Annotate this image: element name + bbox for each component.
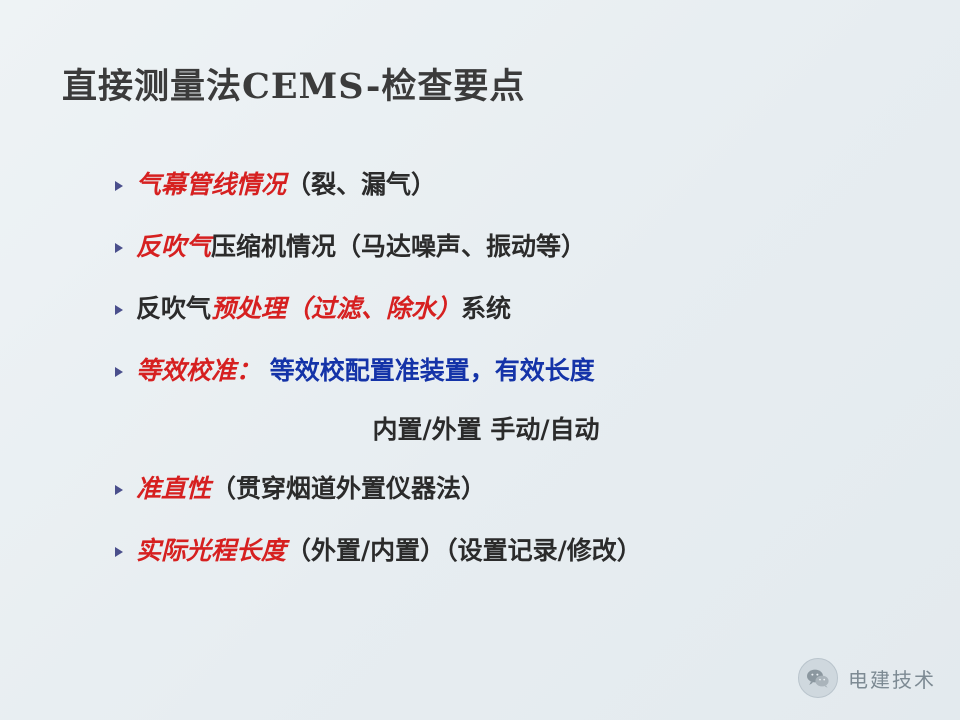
list-item: 等效校准： 等效校配置准装置，有效长度 [112, 354, 912, 388]
watermark-text: 电建技术 [848, 664, 936, 693]
text-segment: 等效校准： [136, 356, 261, 385]
triangle-bullet-icon [112, 534, 136, 559]
list-item: 反吹气预处理（过滤、除水）系统 [112, 292, 912, 326]
text-segment: 等效校配置准装置，有效长度 [261, 356, 595, 385]
text-segment: 实际光程长度 [136, 536, 286, 565]
triangle-bullet-icon [112, 354, 136, 379]
list-item-text: 反吹气压缩机情况（马达噪声、振动等） [136, 230, 586, 264]
triangle-bullet-icon [112, 168, 136, 193]
text-segment: 预处理 [211, 294, 286, 323]
list-item-text: 等效校准： 等效校配置准装置，有效长度 [136, 354, 595, 388]
text-segment: 反吹气 [136, 232, 211, 261]
list-item-text: 反吹气预处理（过滤、除水）系统 [136, 292, 511, 326]
triangle-bullet-icon [112, 292, 136, 317]
text-segment: （裂、漏气） [286, 170, 436, 199]
list-item: 实际光程长度（外置/内置）（设置记录/修改） [112, 534, 912, 568]
list-item-text: 实际光程长度（外置/内置）（设置记录/修改） [136, 534, 642, 568]
bullet-list: 气幕管线情况（裂、漏气） 反吹气压缩机情况（马达噪声、振动等） 反吹气预处理（过… [112, 168, 912, 596]
list-item: 准直性（贯穿烟道外置仪器法） [112, 472, 912, 506]
triangle-bullet-icon [112, 472, 136, 497]
list-item: 反吹气压缩机情况（马达噪声、振动等） [112, 230, 912, 264]
text-segment: 压缩机情况（马达噪声、振动等） [211, 232, 586, 261]
list-item: 气幕管线情况（裂、漏气） [112, 168, 912, 202]
list-item-text: 准直性（贯穿烟道外置仪器法） [136, 472, 486, 506]
text-segment: （贯穿烟道外置仪器法） [211, 474, 486, 503]
watermark: 电建技术 [798, 658, 936, 698]
slide: 直接测量法CEMS-检查要点 气幕管线情况（裂、漏气） 反吹气压缩机情况（马达噪… [0, 0, 960, 720]
list-item-text: 气幕管线情况（裂、漏气） [136, 168, 436, 202]
text-segment: 反吹气 [136, 294, 211, 323]
centered-note: 内置/外置 手动/自动 [136, 410, 836, 446]
text-segment: 系统 [461, 294, 511, 323]
triangle-bullet-icon [112, 230, 136, 255]
text-segment: 准直性 [136, 474, 211, 503]
page-title: 直接测量法CEMS-检查要点 [62, 58, 525, 109]
wechat-icon [798, 658, 838, 698]
text-segment: （外置/内置）（设置记录/修改） [286, 536, 642, 565]
text-segment: （过滤、除水） [286, 294, 461, 323]
text-segment: 气幕管线情况 [136, 170, 286, 199]
